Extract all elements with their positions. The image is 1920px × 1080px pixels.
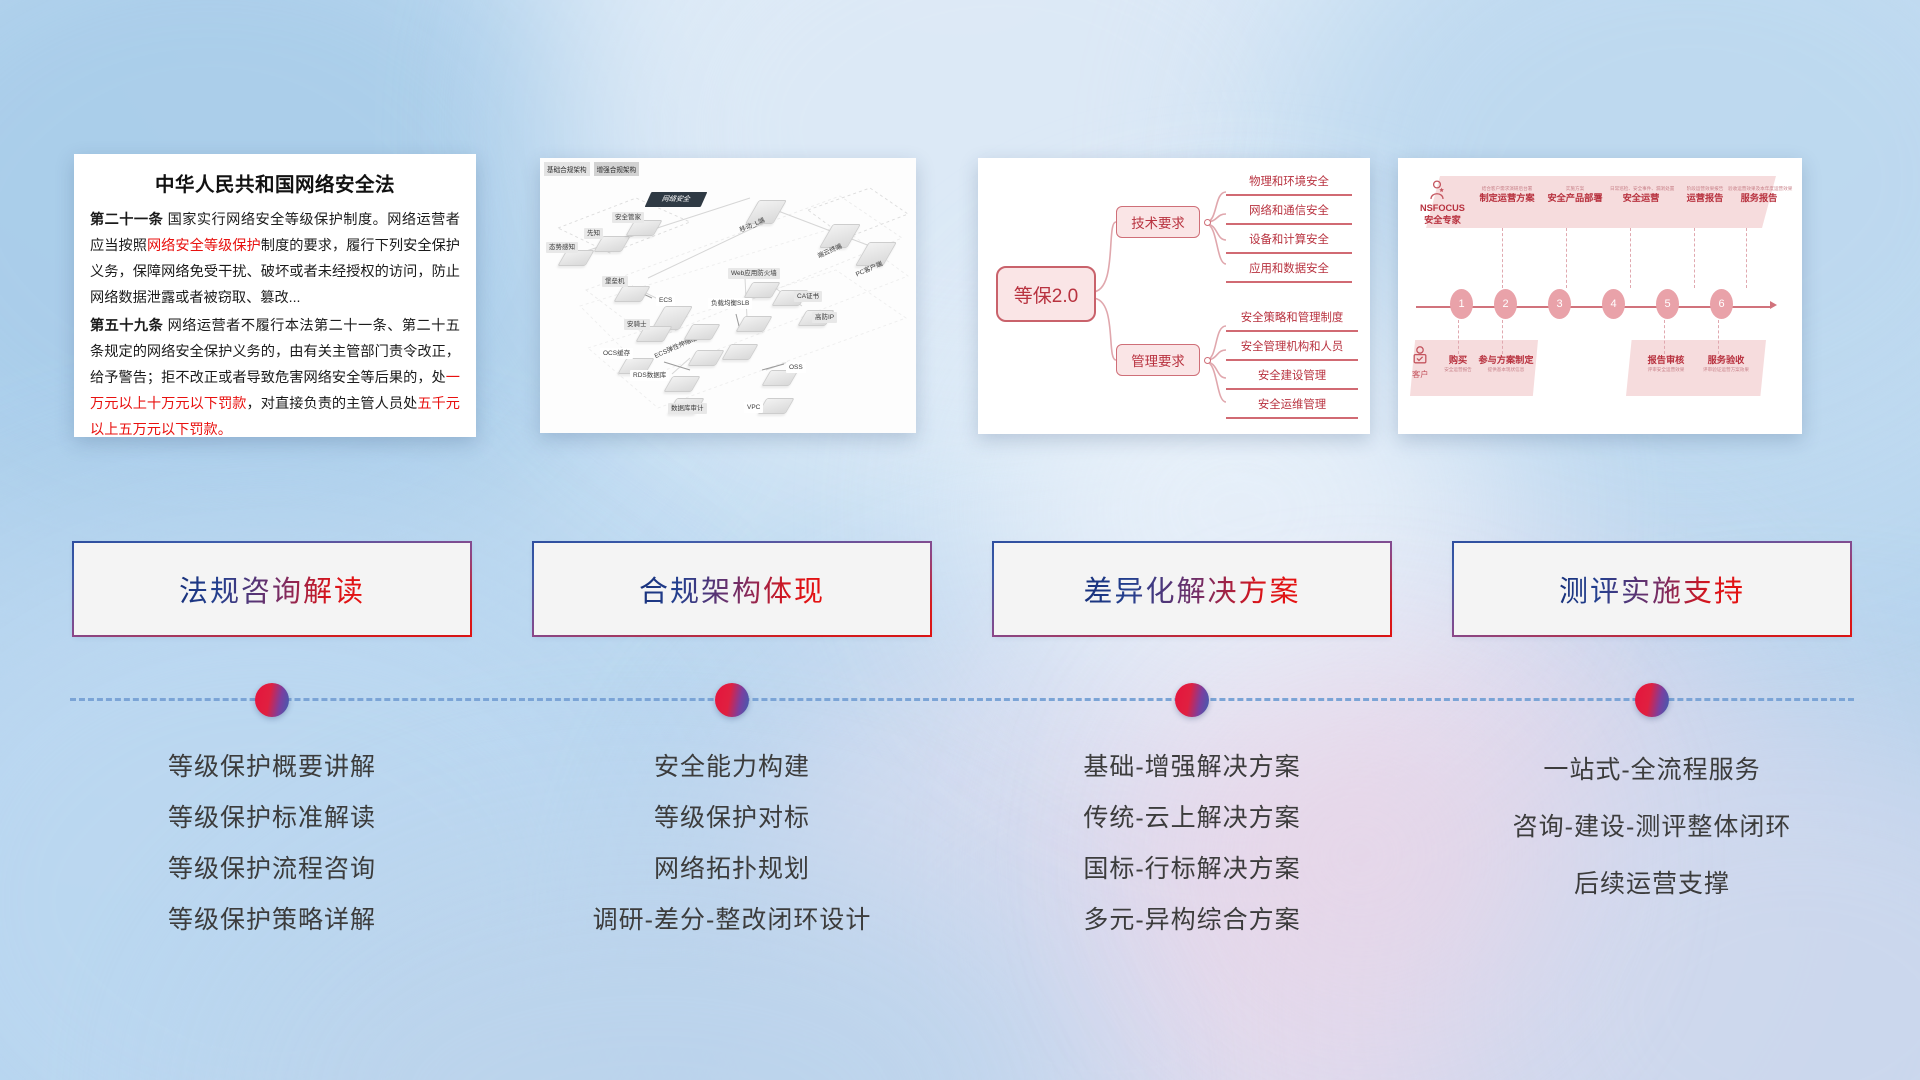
timeline-bottom-item: 购买 安全运营报告 [1436, 354, 1480, 373]
category-pill-evaluation-support[interactable]: 测评实施支持 [1454, 543, 1850, 635]
timeline-bottom-sub: 评审验证运营方案效果 [1696, 366, 1756, 373]
node-oss: OSS [786, 362, 806, 373]
expert-avatar-icon [1428, 180, 1446, 203]
node-ecs: ECS [656, 295, 675, 306]
node-ocs-cache: OCS缓存 [600, 348, 633, 359]
detail-list-compliance-architecture: 安全能力构建 等级保护对标 网络拓扑规划 调研-差分-整改闭环设计 [502, 742, 962, 946]
mindmap-leaf: 设备和计算安全 [1226, 232, 1352, 254]
timeline-top-sub: 验收运营效果及本年度运营效果 [1728, 185, 1790, 192]
timeline-top-sub: 结合客户需求演研后台署 [1476, 185, 1538, 192]
node-database-audit: 数据库审计 [668, 403, 707, 414]
timeline-bottom-head: 报告审核 [1638, 354, 1694, 366]
mindmap-branch-technical: 技术要求 [1116, 206, 1200, 238]
timeline-step-dot[interactable]: 6 [1710, 289, 1733, 319]
timeline-marker-dot[interactable] [1175, 683, 1209, 717]
list-item: 等级保护流程咨询 [42, 844, 502, 895]
timeline-bottom-head: 服务验收 [1696, 354, 1756, 366]
timeline-top-head: 安全产品部署 [1544, 192, 1606, 204]
timeline-bottom-head: 购买 [1436, 354, 1480, 366]
detail-list-evaluation-support: 一站式-全流程服务 咨询-建设-测评整体闭环 后续运营支撑 [1422, 742, 1882, 913]
node-anti-ddos-ip: 高防IP [812, 312, 837, 323]
expert-label-line1: NSFOCUS [1420, 202, 1465, 214]
architecture-connectors [540, 158, 916, 433]
timeline-step-dot[interactable]: 5 [1656, 289, 1679, 319]
customer-label: 客户 [1412, 369, 1428, 380]
timeline-top-item: 日常巡检、安全事件、漏洞处置 安全运营 [1610, 185, 1672, 204]
timeline-bottom-sub: 安全运营报告 [1436, 366, 1480, 373]
list-item: 网络拓扑规划 [502, 844, 962, 895]
list-item: 等级保护对标 [502, 793, 962, 844]
mindmap-leaf: 安全策略和管理制度 [1226, 310, 1358, 332]
article-59-label: 第五十九条 [90, 318, 163, 334]
timeline-step-dot[interactable]: 1 [1450, 289, 1473, 319]
list-item: 多元-异构综合方案 [962, 895, 1422, 946]
timeline-marker-dot[interactable] [255, 683, 289, 717]
mindmap-leaves-management: 安全策略和管理制度 安全管理机构和人员 安全建设管理 安全运维管理 [1226, 310, 1358, 426]
timeline-step-dot[interactable]: 4 [1602, 289, 1625, 319]
category-pill-compliance-architecture[interactable]: 合规架构体现 [534, 543, 930, 635]
node-bastion-host: 堡垒机 [602, 276, 628, 287]
nsfocus-timeline-card[interactable]: NSFOCUS 安全专家 结合客户需求演研后台署 制定运营方案 实施方案 安全产… [1398, 158, 1802, 434]
law-title: 中华人民共和国网络安全法 [90, 168, 460, 197]
mindmap-leaf: 应用和数据安全 [1226, 261, 1352, 283]
node-load-balancer-slb: 负载均衡SLB [708, 298, 752, 309]
timeline-top-item: 实施方案 安全产品部署 [1544, 185, 1606, 204]
timeline-top-sub: 实施方案 [1544, 185, 1606, 192]
node-network-security-banner: 网络安全 [645, 192, 708, 207]
list-item: 等级保护策略详解 [42, 895, 502, 946]
article-21-highlight: 网络安全等级保护 [147, 238, 261, 254]
mindmap-branch-management: 管理要求 [1116, 344, 1200, 376]
detail-list-row: 等级保护概要讲解 等级保护标准解读 等级保护流程咨询 等级保护策略详解 安全能力… [0, 742, 1920, 982]
list-item: 后续运营支撑 [1422, 856, 1882, 913]
timeline-bottom-item: 报告审核 评审安全运营效果 [1638, 354, 1694, 373]
list-item: 安全能力构建 [502, 742, 962, 793]
timeline-bottom-sub: 评审安全运营效果 [1638, 366, 1694, 373]
timeline-step-dot[interactable]: 2 [1494, 289, 1517, 319]
mindmap-root: 等保2.0 [996, 266, 1096, 322]
category-pill-differentiated-solution[interactable]: 差异化解决方案 [994, 543, 1390, 635]
timeline-dashed-line [70, 698, 1854, 705]
mindmap-collapse-dot-technical[interactable] [1204, 219, 1211, 226]
list-item: 调研-差分-整改闭环设计 [502, 895, 962, 946]
law-article-21: 第二十一条 国家实行网络安全等级保护制度。网络运营者应当按照网络安全等级保护制度… [90, 207, 460, 311]
timeline-bottom-item: 参与方案制定 提供基本现状信息 [1476, 354, 1536, 373]
mindmap-leaf: 物理和环境安全 [1226, 174, 1352, 196]
thumbnail-card-row: 中华人民共和国网络安全法 第二十一条 国家实行网络安全等级保护制度。网络运营者应… [0, 148, 1920, 448]
node-security-butler: 安全管家 [612, 212, 644, 223]
mindmap-card[interactable]: 等保2.0 技术要求 物理和环境安全 网络和通信安全 设备和计算安全 应用和数据… [978, 158, 1370, 434]
node-rds-database: RDS数据库 [630, 370, 669, 381]
mindmap-leaf: 安全运维管理 [1226, 397, 1358, 419]
timeline-top-item: 验收运营效果及本年度运营效果 服务报告 [1728, 185, 1790, 204]
mindmap-leaf: 网络和通信安全 [1226, 203, 1352, 225]
mindmap-leaf: 安全管理机构和人员 [1226, 339, 1358, 361]
detail-list-differentiated-solution: 基础-增强解决方案 传统-云上解决方案 国标-行标解决方案 多元-异构综合方案 [962, 742, 1422, 946]
timeline-bottom-head: 参与方案制定 [1476, 354, 1536, 366]
timeline-marker-dot[interactable] [715, 683, 749, 717]
node-web-application-firewall: Web应用防火墙 [728, 268, 780, 279]
node-anqishi: 安骑士 [624, 319, 650, 330]
mindmap-leaves-technical: 物理和环境安全 网络和通信安全 设备和计算安全 应用和数据安全 [1226, 174, 1352, 290]
timeline-top-sub: 阶段运营效果报告 [1674, 185, 1736, 192]
timeline-step-dot[interactable]: 3 [1548, 289, 1571, 319]
expert-label-line2: 安全专家 [1420, 214, 1465, 226]
timeline-bottom-item: 服务验收 评审验证运营方案效果 [1696, 354, 1756, 373]
category-pill-legal-consulting[interactable]: 法规咨询解读 [74, 543, 470, 635]
article-21-label: 第二十一条 [90, 212, 163, 228]
list-item: 等级保护概要讲解 [42, 742, 502, 793]
node-situational-awareness: 态势感知 [546, 242, 578, 253]
detail-list-legal-consulting: 等级保护概要讲解 等级保护标准解读 等级保护流程咨询 等级保护策略详解 [42, 742, 502, 946]
timeline-bottom-sub: 提供基本现状信息 [1476, 366, 1536, 373]
list-item: 基础-增强解决方案 [962, 742, 1422, 793]
article-59-text-b: ，对直接负责的主管人员处 [247, 396, 418, 412]
customer-avatar-icon: 客户 [1412, 346, 1428, 380]
category-pill-label: 差异化解决方案 [1083, 568, 1300, 610]
list-item: 等级保护标准解读 [42, 793, 502, 844]
node-ca-certificate: CA证书 [794, 291, 822, 302]
timeline-top-item: 结合客户需求演研后台署 制定运营方案 [1476, 185, 1538, 204]
law-document-card[interactable]: 中华人民共和国网络安全法 第二十一条 国家实行网络安全等级保护制度。网络运营者应… [74, 154, 476, 437]
list-item: 一站式-全流程服务 [1422, 742, 1882, 799]
timeline-top-head: 运营报告 [1674, 192, 1736, 204]
node-vpc: VPC [744, 402, 763, 413]
category-label-row: 法规咨询解读 合规架构体现 差异化解决方案 测评实施支持 [0, 543, 1920, 647]
list-item: 传统-云上解决方案 [962, 793, 1422, 844]
category-pill-label: 法规咨询解读 [179, 568, 365, 610]
timeline-top-head: 服务报告 [1728, 192, 1790, 204]
mindmap-collapse-dot-management[interactable] [1204, 357, 1211, 364]
timeline-top-head: 安全运营 [1610, 192, 1672, 204]
expert-label: NSFOCUS 安全专家 [1420, 202, 1465, 226]
timeline-arrow-icon [1770, 301, 1777, 309]
timeline-marker-dot[interactable] [1635, 683, 1669, 717]
law-article-59: 第五十九条 网络运营者不履行本法第二十一条、第二十五条规定的网络安全保护义务的，… [90, 313, 460, 437]
timeline-top-item: 阶段运营效果报告 运营报告 [1674, 185, 1736, 204]
category-pill-label: 合规架构体现 [639, 568, 825, 610]
mindmap-leaf: 安全建设管理 [1226, 368, 1358, 390]
category-pill-label: 测评实施支持 [1559, 568, 1745, 610]
architecture-diagram-card[interactable]: 基础合规架构 增强合规架构 [540, 158, 916, 433]
timeline-top-head: 制定运营方案 [1476, 192, 1538, 204]
list-item: 咨询-建设-测评整体闭环 [1422, 799, 1882, 856]
list-item: 国标-行标解决方案 [962, 844, 1422, 895]
timeline-top-sub: 日常巡检、安全事件、漏洞处置 [1610, 185, 1672, 192]
node-xianzhi: 先知 [584, 228, 603, 239]
